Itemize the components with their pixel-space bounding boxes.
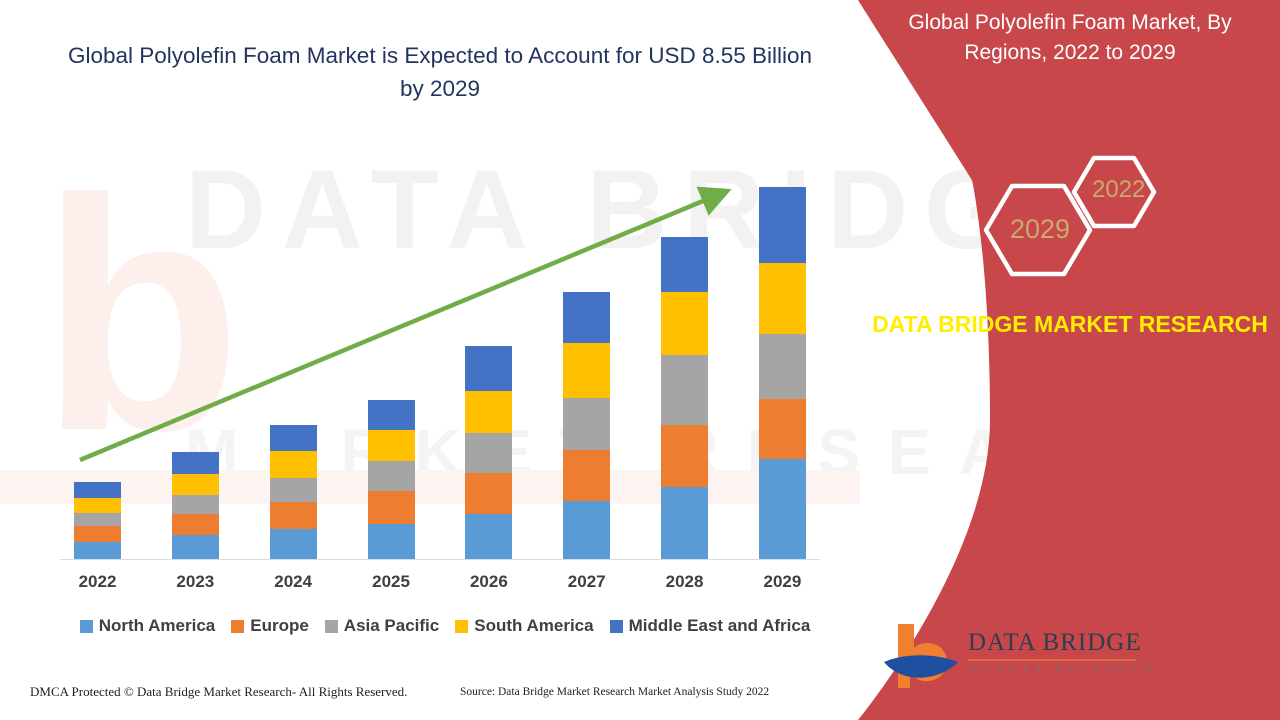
bar-segment: [759, 187, 806, 263]
bar-segment: [661, 292, 708, 355]
bar-2028: [661, 237, 708, 559]
legend-swatch: [231, 620, 244, 633]
legend-label: North America: [99, 616, 216, 636]
legend-swatch: [455, 620, 468, 633]
bar-segment: [563, 292, 610, 343]
brand-name: DATA BRIDGE MARKET RESEARCH: [870, 308, 1270, 341]
bar-segment: [368, 491, 415, 524]
bar-segment: [465, 433, 512, 473]
copyright-notice: DMCA Protected © Data Bridge Market Rese…: [30, 684, 407, 700]
bar-segment: [74, 526, 121, 542]
bar-segment: [270, 502, 317, 529]
bar-segment: [465, 473, 512, 514]
source-note: Source: Data Bridge Market Research Mark…: [460, 686, 769, 698]
legend-swatch: [80, 620, 93, 633]
x-axis-label-2026: 2026: [465, 572, 512, 592]
logo-sub-text: MARKET RESEARCH: [968, 664, 1157, 675]
bar-segment: [74, 482, 121, 498]
bar-2026: [465, 346, 512, 559]
legend-item: South America: [455, 616, 593, 636]
chart-plot-area: [60, 170, 820, 560]
bar-segment: [172, 495, 219, 514]
bar-segment: [270, 451, 317, 478]
bar-segment: [172, 535, 219, 559]
hexagon-label-2029: 2029: [1010, 214, 1070, 245]
bar-2022: [74, 482, 121, 559]
bar-2023: [172, 452, 219, 559]
bar-segment: [661, 355, 708, 425]
legend-item: Middle East and Africa: [610, 616, 811, 636]
legend-item: Europe: [231, 616, 309, 636]
logo-main-text: DATA BRIDGE: [968, 630, 1157, 655]
bar-segment: [759, 334, 806, 399]
x-axis-label-2025: 2025: [368, 572, 415, 592]
x-axis-label-2024: 2024: [270, 572, 317, 592]
bar-segment: [661, 425, 708, 487]
bar-segment: [74, 513, 121, 526]
x-axis-label-2023: 2023: [172, 572, 219, 592]
hexagon-shapes: [970, 150, 1200, 280]
bar-segment: [368, 430, 415, 461]
data-bridge-logo: DATA BRIDGE MARKET RESEARCH: [880, 618, 1170, 700]
bar-segment: [465, 346, 512, 391]
hexagon-label-2022: 2022: [1092, 176, 1145, 204]
page-title: Global Polyolefin Foam Market is Expecte…: [60, 40, 820, 105]
legend-label: Asia Pacific: [344, 616, 439, 636]
bar-segment: [368, 461, 415, 491]
bar-segment: [563, 450, 610, 501]
bar-segment: [172, 452, 219, 474]
x-axis-label-2029: 2029: [759, 572, 806, 592]
bar-segment: [563, 343, 610, 398]
legend-item: North America: [80, 616, 216, 636]
bar-segment: [368, 400, 415, 430]
legend-label: Europe: [250, 616, 309, 636]
bar-2029: [759, 187, 806, 559]
chart-legend: North AmericaEuropeAsia PacificSouth Ame…: [60, 616, 830, 636]
hexagon-badges: 2022 2029: [970, 150, 1200, 280]
bar-2024: [270, 425, 317, 559]
bar-segment: [270, 478, 317, 502]
red-panel-content: Global Polyolefin Foam Market, By Region…: [860, 0, 1280, 720]
bar-2025: [368, 400, 415, 559]
legend-label: South America: [474, 616, 593, 636]
bar-segment: [563, 501, 610, 559]
bar-segment: [172, 474, 219, 495]
bar-segment: [563, 398, 610, 450]
bar-segment: [465, 514, 512, 559]
bar-segment: [465, 391, 512, 433]
bar-segment: [172, 514, 219, 535]
panel-title: Global Polyolefin Foam Market, By Region…: [874, 8, 1266, 69]
bar-segment: [74, 542, 121, 559]
legend-swatch: [325, 620, 338, 633]
bar-segment: [270, 529, 317, 559]
bar-segment: [759, 263, 806, 334]
bar-segment: [368, 524, 415, 559]
legend-label: Middle East and Africa: [629, 616, 811, 636]
x-axis-line: [60, 559, 820, 560]
x-axis-labels: 20222023202420252026202720282029: [60, 572, 820, 592]
legend-item: Asia Pacific: [325, 616, 439, 636]
x-axis-label-2027: 2027: [563, 572, 610, 592]
bar-segment: [759, 399, 806, 459]
bar-segment: [661, 487, 708, 559]
logo-wordmark: DATA BRIDGE MARKET RESEARCH: [968, 630, 1157, 675]
x-axis-label-2028: 2028: [661, 572, 708, 592]
legend-swatch: [610, 620, 623, 633]
x-axis-label-2022: 2022: [74, 572, 121, 592]
stacked-bar-group: [60, 171, 820, 559]
logo-divider: [968, 659, 1136, 661]
bar-segment: [661, 237, 708, 292]
bar-segment: [270, 425, 317, 451]
infographic-canvas: b DATA BRIDGE MARKET RESEARCH Global Pol…: [0, 0, 1280, 720]
bar-segment: [74, 498, 121, 513]
bar-2027: [563, 292, 610, 559]
logo-mark-icon: [880, 618, 966, 696]
bar-segment: [759, 459, 806, 559]
